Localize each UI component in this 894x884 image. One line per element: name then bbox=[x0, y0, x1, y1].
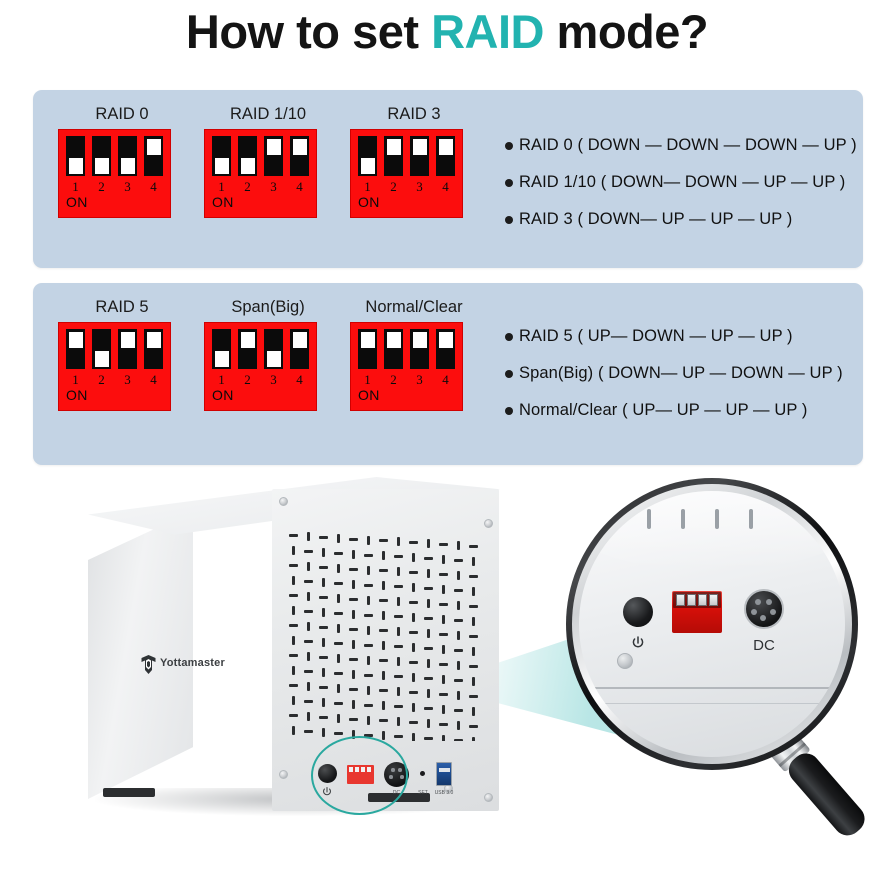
vent-hole bbox=[367, 596, 370, 605]
vent-hole bbox=[319, 686, 328, 689]
vent-hole bbox=[307, 532, 310, 541]
vent-hole bbox=[337, 594, 340, 603]
dip-switch-2[interactable] bbox=[92, 136, 111, 176]
dip-number-row: 1 2 3 4 bbox=[212, 372, 309, 388]
vent-hole bbox=[397, 567, 400, 576]
dip-knob bbox=[95, 158, 109, 174]
vent-hole bbox=[424, 587, 433, 590]
vent-hole bbox=[364, 554, 373, 557]
dip-switch-body[interactable]: 1 2 3 4 ON bbox=[204, 322, 317, 411]
dip-number: 4 bbox=[144, 372, 163, 388]
dip-switch-2[interactable] bbox=[384, 136, 403, 176]
vent-hole bbox=[454, 739, 463, 741]
dip-switch-4[interactable] bbox=[290, 136, 309, 176]
vent-hole bbox=[394, 705, 403, 708]
dip-group-label: Normal/Clear bbox=[350, 298, 478, 317]
vent-hole bbox=[319, 596, 328, 599]
dip-knob bbox=[147, 332, 161, 348]
magnifier-grip bbox=[783, 748, 870, 841]
usb-slot bbox=[439, 768, 450, 772]
vent-hole bbox=[367, 656, 370, 665]
set-pinhole[interactable] bbox=[420, 771, 425, 776]
dip-group-raid-5: RAID 5 1 2 3 4 ON bbox=[58, 298, 186, 416]
vent-hole bbox=[337, 534, 340, 543]
dip-knob bbox=[709, 594, 718, 606]
vent-hole bbox=[454, 649, 463, 652]
dip-number: 1 bbox=[66, 372, 85, 388]
vent-slot bbox=[647, 509, 651, 529]
vent-hole bbox=[304, 730, 313, 733]
dip-knob bbox=[241, 332, 255, 348]
dip-switch-1[interactable] bbox=[66, 329, 85, 369]
dip-knob bbox=[69, 158, 83, 174]
brand-logo: Yottamaster bbox=[141, 655, 227, 675]
title-part-1: How to set bbox=[186, 5, 431, 58]
bullet-item: RAID 1/10 ( DOWN— DOWN — UP — UP ) bbox=[505, 173, 857, 192]
dip-switch-4[interactable] bbox=[436, 329, 455, 369]
vent-slot bbox=[681, 509, 685, 529]
bullet-item: RAID 0 ( DOWN — DOWN — DOWN — UP ) bbox=[505, 136, 857, 155]
vent-hole bbox=[412, 613, 415, 622]
vent-hole bbox=[334, 612, 343, 615]
vent-hole bbox=[454, 559, 463, 562]
vent-hole bbox=[394, 675, 403, 678]
vent-hole bbox=[292, 576, 295, 585]
vent-hole bbox=[304, 670, 313, 673]
vent-hole bbox=[322, 548, 325, 557]
dip-knob bbox=[147, 139, 161, 155]
vent-hole bbox=[349, 568, 358, 571]
magnified-dc-label: DC bbox=[744, 637, 784, 654]
bullet-text: Normal/Clear ( UP— UP — UP — UP ) bbox=[519, 401, 807, 420]
dip-switch-2[interactable] bbox=[92, 329, 111, 369]
vent-hole bbox=[334, 732, 343, 735]
dip-switch-1[interactable] bbox=[212, 329, 231, 369]
vent-hole bbox=[469, 545, 478, 548]
vent-hole bbox=[472, 737, 475, 741]
bullet-text: RAID 1/10 ( DOWN— DOWN — UP — UP ) bbox=[519, 173, 845, 192]
vent-hole bbox=[469, 635, 478, 638]
vent-hole bbox=[364, 584, 373, 587]
dip-knob bbox=[387, 332, 401, 348]
dip-number-row: 1 2 3 4 bbox=[66, 372, 163, 388]
vent-hole bbox=[472, 617, 475, 626]
vent-hole bbox=[289, 594, 298, 597]
dip-knob bbox=[241, 158, 255, 174]
dip-switch-2[interactable] bbox=[238, 329, 257, 369]
vent-hole bbox=[322, 608, 325, 617]
vent-hole bbox=[472, 587, 475, 596]
vent-hole bbox=[379, 539, 388, 542]
vent-hole bbox=[379, 719, 388, 722]
vent-hole bbox=[427, 599, 430, 608]
vent-hole bbox=[457, 541, 460, 550]
vent-hole bbox=[349, 688, 358, 691]
dip-knob bbox=[121, 332, 135, 348]
vent-hole bbox=[352, 670, 355, 679]
dip-on-label: ON bbox=[358, 194, 380, 210]
vent-hole bbox=[457, 601, 460, 610]
vent-hole bbox=[337, 654, 340, 663]
vent-hole bbox=[412, 673, 415, 682]
dip-number: 3 bbox=[118, 179, 137, 195]
vent-hole bbox=[442, 555, 445, 564]
dip-switch-3[interactable] bbox=[118, 136, 137, 176]
dip-switch-body[interactable]: 1 2 3 4 ON bbox=[350, 129, 463, 218]
magnified-dip-switch[interactable] bbox=[672, 591, 722, 633]
power-icon bbox=[630, 635, 646, 651]
vent-hole bbox=[439, 723, 448, 726]
raid-bullet-list-1: RAID 0 ( DOWN — DOWN — DOWN — UP ) RAID … bbox=[505, 136, 857, 247]
magnifier-lens: DC bbox=[579, 491, 845, 757]
dip-number: 1 bbox=[66, 179, 85, 195]
bullet-text: RAID 0 ( DOWN — DOWN — DOWN — UP ) bbox=[519, 136, 857, 155]
vent-hole bbox=[337, 684, 340, 693]
title-accent-raid: RAID bbox=[431, 5, 544, 58]
vent-hole bbox=[457, 631, 460, 640]
vent-hole bbox=[352, 610, 355, 619]
vent-hole bbox=[379, 569, 388, 572]
dip-group-label: RAID 5 bbox=[58, 298, 186, 317]
dc-pin bbox=[770, 609, 776, 615]
dip-switch-body[interactable]: 1 2 3 4 ON bbox=[204, 129, 317, 218]
vent-hole bbox=[379, 629, 388, 632]
vent-hole bbox=[412, 733, 415, 741]
dip-knob bbox=[121, 158, 135, 174]
vent-hole bbox=[349, 628, 358, 631]
dip-number: 2 bbox=[384, 179, 403, 195]
bullet-item: Normal/Clear ( UP— UP — UP — UP ) bbox=[505, 401, 843, 420]
vent-hole bbox=[379, 689, 388, 692]
vent-hole bbox=[469, 605, 478, 608]
vent-hole bbox=[397, 627, 400, 636]
vent-hole bbox=[292, 696, 295, 705]
dip-switch-1[interactable] bbox=[212, 136, 231, 176]
vent-hole bbox=[382, 551, 385, 560]
vent-hole bbox=[472, 677, 475, 686]
dip-on-label: ON bbox=[212, 387, 234, 403]
vent-hole bbox=[337, 624, 340, 633]
vent-hole bbox=[424, 707, 433, 710]
bullet-dot-icon bbox=[505, 142, 513, 150]
vent-hole bbox=[439, 633, 448, 636]
dip-switch-3[interactable] bbox=[264, 329, 283, 369]
vent-hole bbox=[337, 564, 340, 573]
vent-hole bbox=[457, 691, 460, 700]
dip-knob bbox=[293, 332, 307, 348]
vent-hole bbox=[397, 687, 400, 696]
vent-hole bbox=[289, 564, 298, 567]
dc-pin bbox=[751, 609, 757, 615]
vent-hole bbox=[364, 704, 373, 707]
vent-hole bbox=[409, 541, 418, 544]
dip-group-span-big: Span(Big) 1 2 3 4 ON bbox=[204, 298, 332, 416]
vent-hole bbox=[307, 622, 310, 631]
dip-number: 4 bbox=[290, 179, 309, 195]
vent-hole bbox=[394, 645, 403, 648]
vent-hole bbox=[382, 581, 385, 590]
vent-hole bbox=[322, 578, 325, 587]
dip-switch-2[interactable] bbox=[238, 136, 257, 176]
enclosure-screw bbox=[484, 519, 493, 528]
vent-hole bbox=[427, 569, 430, 578]
vent-hole bbox=[412, 553, 415, 562]
dip-group-label: RAID 1/10 bbox=[204, 105, 332, 124]
vent-hole bbox=[439, 663, 448, 666]
dip-on-label: ON bbox=[358, 387, 380, 403]
dip-number: 3 bbox=[264, 179, 283, 195]
vent-hole bbox=[424, 677, 433, 680]
vent-hole bbox=[454, 619, 463, 622]
vent-hole bbox=[457, 571, 460, 580]
dc-pin bbox=[760, 615, 766, 621]
bullet-dot-icon bbox=[505, 216, 513, 224]
dip-knob bbox=[69, 332, 83, 348]
vent-hole bbox=[367, 536, 370, 545]
vent-hole bbox=[394, 735, 403, 738]
vent-hole bbox=[292, 636, 295, 645]
magnified-screw bbox=[617, 653, 633, 669]
dip-knob bbox=[215, 158, 229, 174]
vent-hole bbox=[472, 647, 475, 656]
dip-knob bbox=[293, 139, 307, 155]
vent-hole bbox=[322, 698, 325, 707]
vent-hole bbox=[367, 686, 370, 695]
vent-hole bbox=[382, 701, 385, 710]
dip-number-row: 1 2 3 4 bbox=[358, 372, 455, 388]
dip-group-label: Span(Big) bbox=[204, 298, 332, 317]
vent-hole bbox=[304, 610, 313, 613]
vent-hole bbox=[334, 582, 343, 585]
vent-hole bbox=[292, 666, 295, 675]
yottamaster-mark-icon bbox=[141, 655, 156, 674]
dip-number: 3 bbox=[410, 179, 429, 195]
vent-hole bbox=[367, 716, 370, 725]
vent-hole bbox=[319, 656, 328, 659]
dip-switch-3[interactable] bbox=[264, 136, 283, 176]
vent-hole bbox=[292, 726, 295, 735]
dip-knob bbox=[676, 594, 685, 606]
dip-group-raid-3: RAID 3 1 2 3 4 ON bbox=[350, 105, 478, 223]
panel-seam bbox=[579, 703, 845, 704]
vent-hole bbox=[349, 718, 358, 721]
vent-hole bbox=[409, 601, 418, 604]
vent-hole bbox=[382, 671, 385, 680]
dip-number: 1 bbox=[358, 179, 377, 195]
dip-number-row: 1 2 3 4 bbox=[212, 179, 309, 195]
dip-switch-row[interactable] bbox=[66, 329, 163, 369]
vent-hole bbox=[307, 562, 310, 571]
dip-group-normal-clear: Normal/Clear 1 2 3 4 ON bbox=[350, 298, 478, 416]
vent-hole bbox=[337, 714, 340, 723]
brand-name: Yottamaster bbox=[160, 657, 225, 669]
bullet-dot-icon bbox=[505, 370, 513, 378]
vent-hole bbox=[322, 668, 325, 677]
magnifier: DC bbox=[566, 478, 894, 884]
vent-hole bbox=[379, 659, 388, 662]
panel-seam bbox=[579, 687, 845, 689]
vent-hole bbox=[397, 597, 400, 606]
bullet-item: Span(Big) ( DOWN— UP — DOWN — UP ) bbox=[505, 364, 843, 383]
vent-hole bbox=[427, 629, 430, 638]
product-photo: Yottamaster DC SET bbox=[0, 466, 894, 884]
dip-switch-3[interactable] bbox=[410, 329, 429, 369]
vent-hole bbox=[394, 615, 403, 618]
enclosure-screw bbox=[279, 497, 288, 506]
dip-on-label: ON bbox=[66, 194, 88, 210]
infographic-root: How to set RAID mode? RAID 0 1 2 3 4 ON … bbox=[0, 0, 894, 884]
dip-switch-4[interactable] bbox=[436, 136, 455, 176]
dip-group-label: RAID 3 bbox=[350, 105, 478, 124]
vent-hole bbox=[472, 557, 475, 566]
page-title: How to set RAID mode? bbox=[0, 4, 894, 59]
vent-hole bbox=[307, 592, 310, 601]
dip-number: 1 bbox=[212, 179, 231, 195]
vent-hole bbox=[427, 539, 430, 548]
dip-number: 2 bbox=[238, 372, 257, 388]
magnified-power-button[interactable] bbox=[623, 597, 653, 627]
dip-knob bbox=[361, 332, 375, 348]
dip-knob bbox=[413, 332, 427, 348]
vent-hole bbox=[304, 550, 313, 553]
vent-hole bbox=[412, 583, 415, 592]
vent-hole bbox=[439, 693, 448, 696]
dip-knob bbox=[413, 139, 427, 155]
dip-number: 2 bbox=[92, 372, 111, 388]
dip-knob bbox=[387, 139, 401, 155]
dip-switch-row[interactable] bbox=[358, 329, 455, 369]
vent-hole bbox=[319, 626, 328, 629]
vent-hole bbox=[349, 538, 358, 541]
magnified-dc-port[interactable] bbox=[744, 589, 784, 629]
vent-hole bbox=[394, 585, 403, 588]
bullet-item: RAID 5 ( UP— DOWN — UP — UP ) bbox=[505, 327, 843, 346]
dip-knob bbox=[95, 351, 109, 367]
dip-number: 4 bbox=[436, 179, 455, 195]
vent-hole bbox=[322, 728, 325, 737]
vent-hole bbox=[319, 536, 328, 539]
vent-hole bbox=[382, 731, 385, 740]
dip-knob bbox=[361, 158, 375, 174]
vent-hole bbox=[469, 695, 478, 698]
dip-switch-1[interactable] bbox=[358, 136, 377, 176]
dip-switch-1[interactable] bbox=[358, 329, 377, 369]
dip-switch-1[interactable] bbox=[66, 136, 85, 176]
vent-hole bbox=[319, 716, 328, 719]
vent-hole bbox=[412, 703, 415, 712]
vent-hole bbox=[457, 721, 460, 730]
dip-switch-4[interactable] bbox=[144, 136, 163, 176]
vent-hole bbox=[307, 712, 310, 721]
vent-hole bbox=[439, 603, 448, 606]
vent-hole bbox=[349, 598, 358, 601]
magnified-vent-slots bbox=[647, 509, 765, 531]
vent-hole bbox=[442, 585, 445, 594]
dip-on-label: ON bbox=[66, 387, 88, 403]
vent-hole bbox=[292, 606, 295, 615]
vent-slot bbox=[715, 509, 719, 529]
vent-hole bbox=[442, 705, 445, 714]
dip-knob bbox=[698, 594, 707, 606]
vent-hole bbox=[352, 640, 355, 649]
dip-switch-4[interactable] bbox=[290, 329, 309, 369]
enclosure-screw bbox=[279, 770, 288, 779]
vent-hole bbox=[364, 674, 373, 677]
dip-number-row: 1 2 3 4 bbox=[66, 179, 163, 195]
dip-number: 2 bbox=[384, 372, 403, 388]
vent-hole bbox=[292, 546, 295, 555]
vent-hole bbox=[382, 641, 385, 650]
vent-hole bbox=[352, 580, 355, 589]
vent-hole bbox=[442, 675, 445, 684]
vent-hole bbox=[469, 575, 478, 578]
vent-hole bbox=[379, 599, 388, 602]
bullet-text: RAID 3 ( DOWN— UP — UP — UP ) bbox=[519, 210, 792, 229]
dip-knob bbox=[267, 139, 281, 155]
vent-hole bbox=[307, 682, 310, 691]
vent-hole bbox=[304, 700, 313, 703]
vent-hole bbox=[424, 647, 433, 650]
dip-knob bbox=[267, 351, 281, 367]
dip-switch-body[interactable]: 1 2 3 4 ON bbox=[350, 322, 463, 411]
dip-switch-row[interactable] bbox=[66, 136, 163, 176]
usb3-port[interactable] bbox=[436, 762, 452, 786]
title-part-2: mode? bbox=[544, 5, 708, 58]
dip-switch-body[interactable]: 1 2 3 4 ON bbox=[58, 322, 171, 411]
vent-hole bbox=[289, 714, 298, 717]
vent-hole bbox=[424, 557, 433, 560]
dip-number: 3 bbox=[264, 372, 283, 388]
vent-hole bbox=[304, 640, 313, 643]
vent-hole bbox=[319, 566, 328, 569]
vent-hole bbox=[442, 615, 445, 624]
vent-hole bbox=[304, 580, 313, 583]
raid-bullet-list-2: RAID 5 ( UP— DOWN — UP — UP ) Span(Big) … bbox=[505, 327, 843, 438]
bullet-dot-icon bbox=[505, 333, 513, 341]
bullet-dot-icon bbox=[505, 179, 513, 187]
vent-hole bbox=[349, 658, 358, 661]
dip-switch-row[interactable] bbox=[212, 136, 309, 176]
vent-hole bbox=[289, 654, 298, 657]
dip-switch-2[interactable] bbox=[384, 329, 403, 369]
dip-switch-3[interactable] bbox=[118, 329, 137, 369]
dip-number: 1 bbox=[358, 372, 377, 388]
enclosure-foot-left bbox=[103, 788, 155, 797]
dip-knob bbox=[439, 332, 453, 348]
dip-switch-4[interactable] bbox=[144, 329, 163, 369]
vent-hole bbox=[334, 702, 343, 705]
vent-hole bbox=[427, 719, 430, 728]
dip-switch-3[interactable] bbox=[410, 136, 429, 176]
vent-hole bbox=[409, 571, 418, 574]
vent-hole bbox=[439, 573, 448, 576]
vent-hole bbox=[334, 642, 343, 645]
dip-number: 4 bbox=[144, 179, 163, 195]
bullet-text: Span(Big) ( DOWN— UP — DOWN — UP ) bbox=[519, 364, 843, 383]
dip-switch-row[interactable] bbox=[358, 136, 455, 176]
vent-hole bbox=[394, 555, 403, 558]
vent-slot bbox=[749, 509, 753, 529]
vent-hole bbox=[397, 657, 400, 666]
bullet-text: RAID 5 ( UP— DOWN — UP — UP ) bbox=[519, 327, 793, 346]
dip-switch-body[interactable]: 1 2 3 4 ON bbox=[58, 129, 171, 218]
dip-number: 4 bbox=[290, 372, 309, 388]
vent-hole bbox=[352, 700, 355, 709]
dip-number: 3 bbox=[118, 372, 137, 388]
dip-switch-row[interactable] bbox=[212, 329, 309, 369]
bullet-item: RAID 3 ( DOWN— UP — UP — UP ) bbox=[505, 210, 857, 229]
vent-hole bbox=[397, 717, 400, 726]
